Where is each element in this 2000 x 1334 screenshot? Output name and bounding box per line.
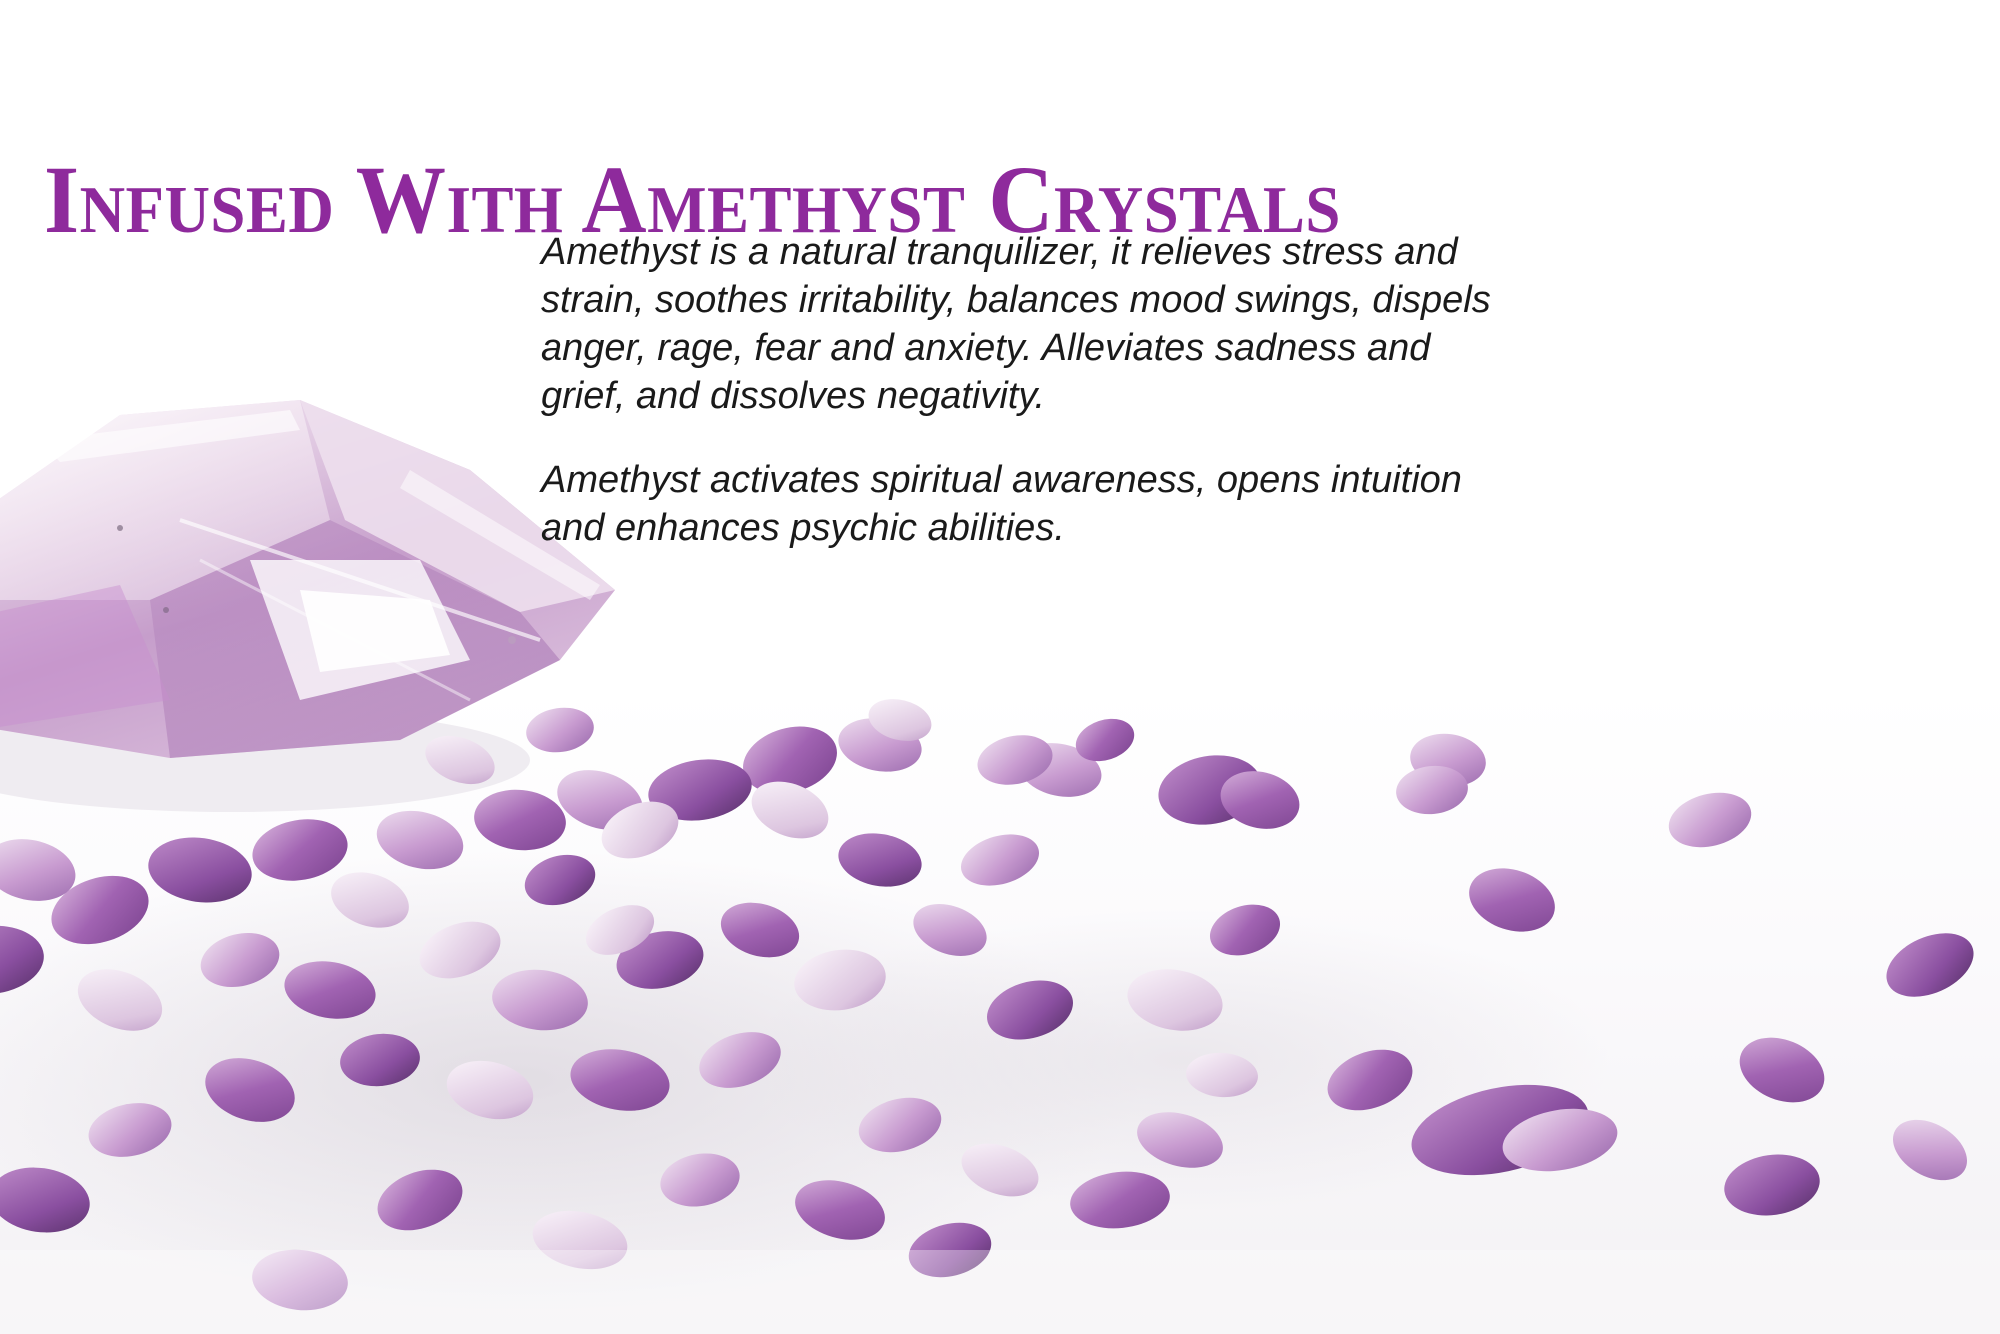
paragraph-benefits: Amethyst is a natural tranquilizer, it r… [541,228,1493,420]
amethyst-info-slide: Infused with Amethyst Crystals Amethyst … [0,0,2000,1334]
body-copy: Amethyst is a natural tranquilizer, it r… [541,228,1493,552]
amethyst-chips [0,693,1983,1315]
amethyst-point-crystal [0,400,615,812]
paragraph-spiritual: Amethyst activates spiritual awareness, … [541,456,1493,552]
